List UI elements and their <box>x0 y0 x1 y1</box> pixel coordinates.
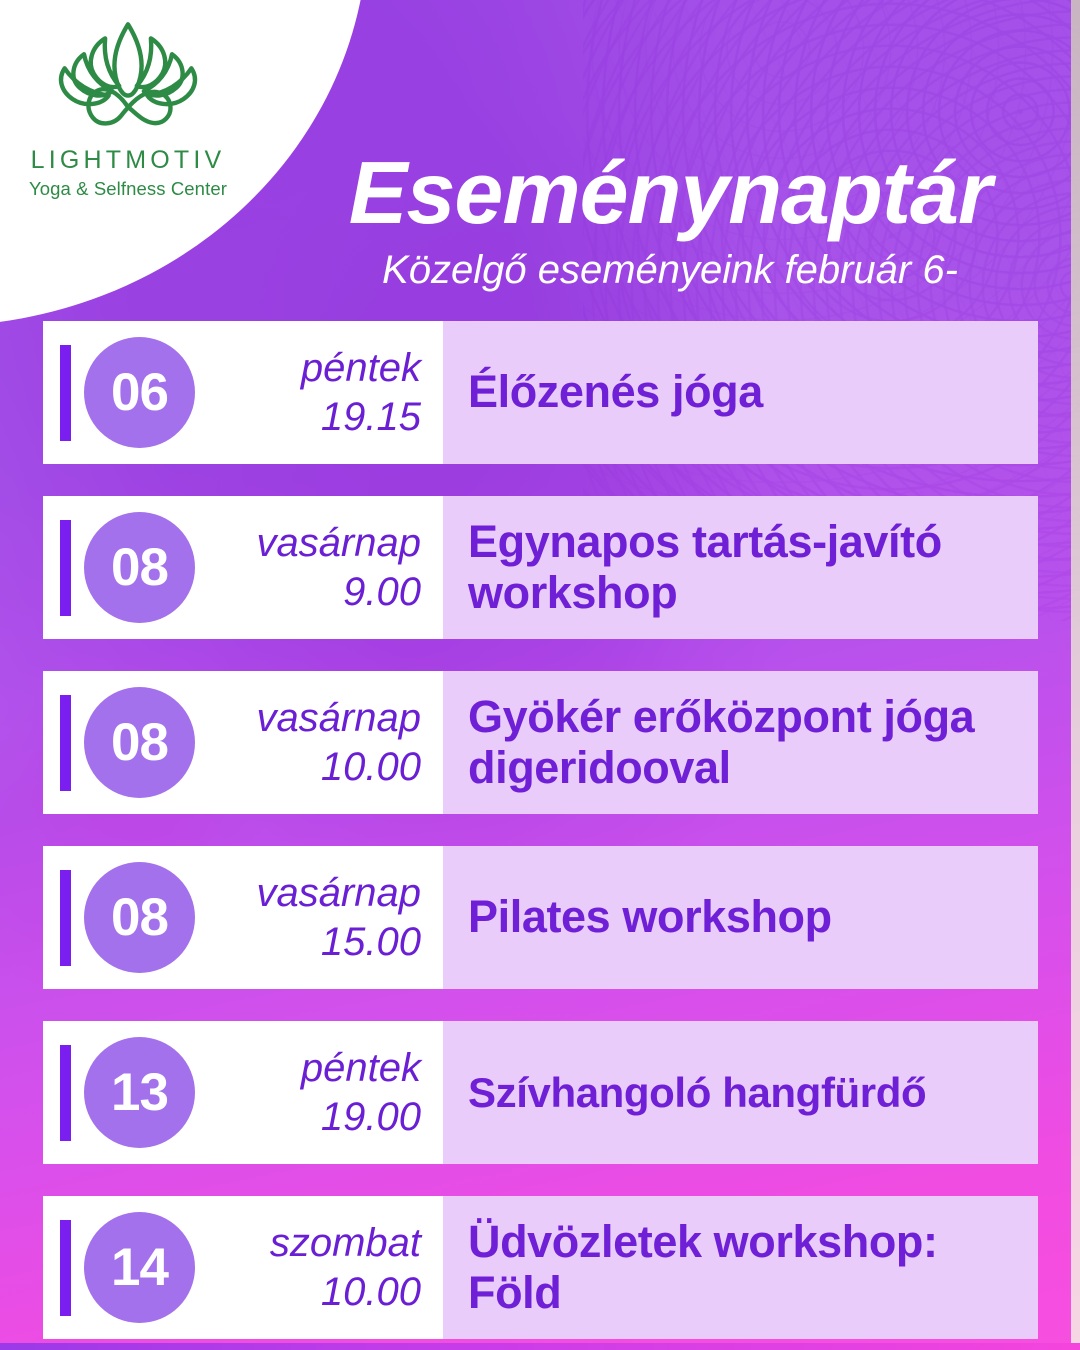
page-title: Eseménynaptár <box>300 148 1040 238</box>
event-time: 19.00 <box>321 1093 421 1142</box>
event-time: 9.00 <box>343 568 421 617</box>
lotus-infinity-icon <box>38 12 218 144</box>
event-when: vasárnap 10.00 <box>189 694 443 792</box>
accent-bar-icon <box>60 1220 71 1316</box>
accent-bar-icon <box>60 1045 71 1141</box>
event-when: péntek 19.00 <box>189 1044 443 1142</box>
accent-bar-icon <box>60 870 71 966</box>
bottom-edge-strip <box>0 1343 1080 1350</box>
event-weekday: szombat <box>270 1219 421 1268</box>
event-day-badge: 14 <box>84 1212 195 1323</box>
event-weekday: péntek <box>301 1044 421 1093</box>
event-title: Szívhangoló hangfürdő <box>443 1021 1038 1164</box>
event-title: Üdvözletek workshop: Föld <box>443 1196 1038 1339</box>
page-subtitle: Közelgő eseményeink február 6- <box>300 246 1040 294</box>
event-when: péntek 19.15 <box>189 344 443 442</box>
event-row[interactable]: 13 péntek 19.00 Szívhangoló hangfürdő <box>43 1021 1038 1164</box>
event-title: Pilates workshop <box>443 846 1038 989</box>
accent-bar-icon <box>60 520 71 616</box>
accent-bar-icon <box>60 345 71 441</box>
event-weekday: vasárnap <box>256 869 421 918</box>
event-row[interactable]: 08 vasárnap 10.00 Gyökér erőközpont jóga… <box>43 671 1038 814</box>
event-row[interactable]: 06 péntek 19.15 Élőzenés jóga <box>43 321 1038 464</box>
event-time: 10.00 <box>321 1268 421 1317</box>
event-title: Egynapos tartás-javító workshop <box>443 496 1038 639</box>
event-title: Élőzenés jóga <box>443 321 1038 464</box>
event-row[interactable]: 08 vasárnap 15.00 Pilates workshop <box>43 846 1038 989</box>
right-edge-strip <box>1071 0 1080 1350</box>
event-date-panel: 08 vasárnap 15.00 <box>43 846 443 989</box>
event-row[interactable]: 14 szombat 10.00 Üdvözletek workshop: Fö… <box>43 1196 1038 1339</box>
event-day-badge: 06 <box>84 337 195 448</box>
event-time: 19.15 <box>321 393 421 442</box>
event-date-panel: 08 vasárnap 10.00 <box>43 671 443 814</box>
event-date-panel: 08 vasárnap 9.00 <box>43 496 443 639</box>
brand-logo: LIGHTMOTIV Yoga & Selfness Center <box>12 12 244 222</box>
event-day-badge: 08 <box>84 862 195 973</box>
event-day-badge: 08 <box>84 687 195 798</box>
event-date-panel: 13 péntek 19.00 <box>43 1021 443 1164</box>
event-row[interactable]: 08 vasárnap 9.00 Egynapos tartás-javító … <box>43 496 1038 639</box>
poster-heading: Eseménynaptár Közelgő eseményeink februá… <box>300 148 1040 294</box>
event-when: szombat 10.00 <box>189 1219 443 1317</box>
event-weekday: vasárnap <box>256 694 421 743</box>
event-when: vasárnap 15.00 <box>189 869 443 967</box>
brand-tagline: Yoga & Selfness Center <box>29 180 227 199</box>
event-title: Gyökér erőközpont jóga digeridooval <box>443 671 1038 814</box>
event-when: vasárnap 9.00 <box>189 519 443 617</box>
event-day-badge: 13 <box>84 1037 195 1148</box>
brand-name: LIGHTMOTIV <box>31 148 226 173</box>
event-date-panel: 14 szombat 10.00 <box>43 1196 443 1339</box>
accent-bar-icon <box>60 695 71 791</box>
event-time: 10.00 <box>321 743 421 792</box>
event-day-badge: 08 <box>84 512 195 623</box>
event-weekday: péntek <box>301 344 421 393</box>
event-date-panel: 06 péntek 19.15 <box>43 321 443 464</box>
event-time: 15.00 <box>321 918 421 967</box>
events-list: 06 péntek 19.15 Élőzenés jóga 08 vasárna… <box>43 321 1038 1339</box>
event-calendar-poster: LIGHTMOTIV Yoga & Selfness Center Esemén… <box>0 0 1080 1350</box>
event-weekday: vasárnap <box>256 519 421 568</box>
